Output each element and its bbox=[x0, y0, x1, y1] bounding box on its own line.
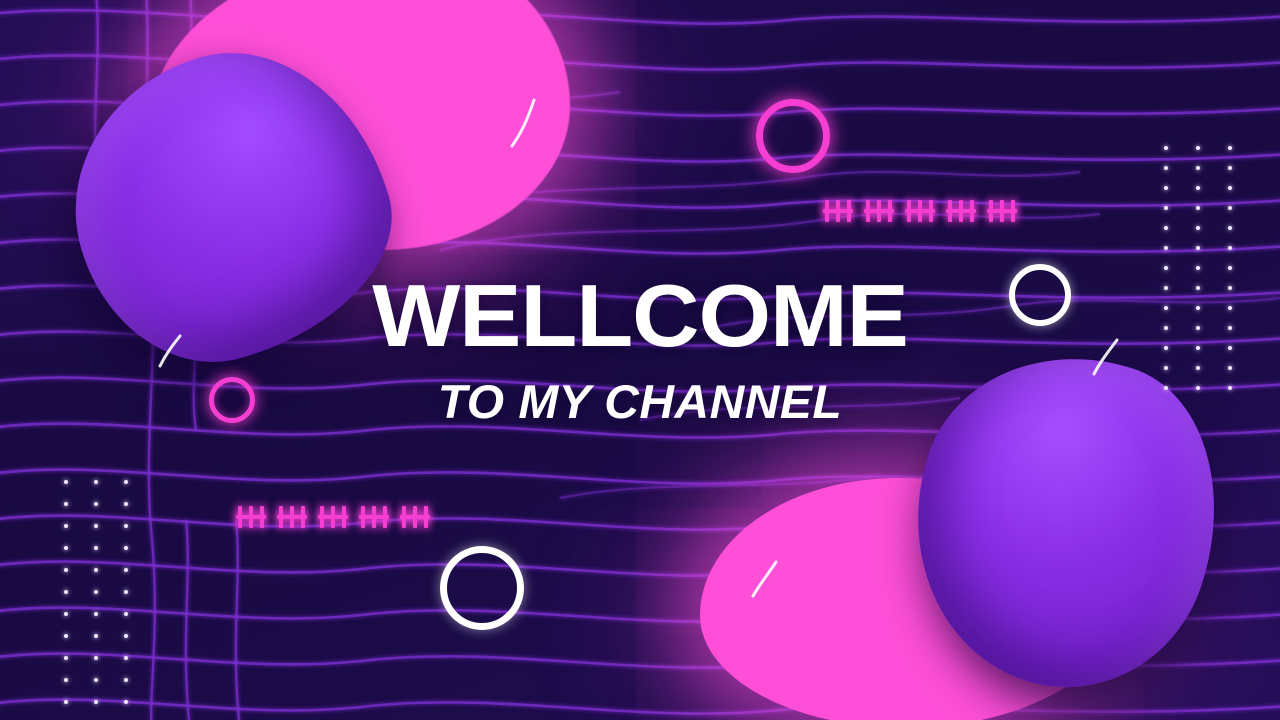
page-subtitle: TO MY CHANNEL bbox=[0, 378, 1280, 425]
grid-dot bbox=[1164, 166, 1168, 170]
grid-dot bbox=[94, 656, 98, 660]
grid-dot bbox=[1228, 226, 1232, 230]
headline-block: WELLCOME TO MY CHANNEL bbox=[0, 272, 1280, 425]
tally-group bbox=[236, 506, 266, 528]
tally-marks-bottom-left bbox=[236, 506, 430, 528]
tally-group bbox=[987, 200, 1017, 222]
ring-pink-top-right bbox=[756, 99, 830, 173]
tally-group bbox=[277, 506, 307, 528]
grid-dot bbox=[124, 656, 128, 660]
dot-grid-left bbox=[64, 480, 128, 704]
grid-dot bbox=[94, 480, 98, 484]
grid-dot bbox=[94, 568, 98, 572]
grid-dot bbox=[1228, 266, 1232, 270]
tally-group bbox=[864, 200, 894, 222]
grid-dot bbox=[1164, 226, 1168, 230]
tally-group bbox=[318, 506, 348, 528]
grid-dot bbox=[64, 656, 68, 660]
grid-dot bbox=[1164, 186, 1168, 190]
grid-dot bbox=[1196, 166, 1200, 170]
tally-group bbox=[400, 506, 430, 528]
grid-dot bbox=[1164, 246, 1168, 250]
grid-dot bbox=[64, 546, 68, 550]
grid-dot bbox=[94, 634, 98, 638]
tally-group bbox=[359, 506, 389, 528]
grid-dot bbox=[1228, 146, 1232, 150]
grid-dot bbox=[1228, 206, 1232, 210]
grid-dot bbox=[124, 612, 128, 616]
grid-dot bbox=[1196, 226, 1200, 230]
page-title: WELLCOME bbox=[0, 272, 1280, 360]
grid-dot bbox=[64, 634, 68, 638]
grid-dot bbox=[94, 502, 98, 506]
grid-dot bbox=[124, 568, 128, 572]
grid-dot bbox=[1228, 186, 1232, 190]
grid-dot bbox=[64, 568, 68, 572]
grid-dot bbox=[124, 678, 128, 682]
grid-dot bbox=[1164, 266, 1168, 270]
grid-dot bbox=[124, 480, 128, 484]
grid-dot bbox=[64, 524, 68, 528]
grid-dot bbox=[64, 678, 68, 682]
grid-dot bbox=[124, 546, 128, 550]
grid-dot bbox=[1196, 266, 1200, 270]
grid-dot bbox=[124, 634, 128, 638]
grid-dot bbox=[1164, 146, 1168, 150]
grid-dot bbox=[124, 590, 128, 594]
grid-dot bbox=[1196, 246, 1200, 250]
poster-canvas: WELLCOME TO MY CHANNEL bbox=[0, 0, 1280, 720]
grid-dot bbox=[94, 700, 98, 704]
grid-dot bbox=[1164, 206, 1168, 210]
ring-white-bottom bbox=[440, 546, 524, 630]
grid-dot bbox=[94, 612, 98, 616]
tally-marks-top-right bbox=[823, 200, 1017, 222]
grid-dot bbox=[94, 590, 98, 594]
grid-dot bbox=[124, 502, 128, 506]
grid-dot bbox=[124, 524, 128, 528]
grid-dot bbox=[1196, 186, 1200, 190]
grid-dot bbox=[124, 700, 128, 704]
grid-dot bbox=[1196, 146, 1200, 150]
tally-group bbox=[946, 200, 976, 222]
tally-group bbox=[905, 200, 935, 222]
grid-dot bbox=[64, 590, 68, 594]
grid-dot bbox=[1196, 206, 1200, 210]
grid-dot bbox=[94, 546, 98, 550]
grid-dot bbox=[64, 502, 68, 506]
grid-dot bbox=[64, 480, 68, 484]
tally-group bbox=[823, 200, 853, 222]
grid-dot bbox=[1228, 166, 1232, 170]
grid-dot bbox=[64, 612, 68, 616]
grid-dot bbox=[1228, 246, 1232, 250]
grid-dot bbox=[64, 700, 68, 704]
grid-dot bbox=[94, 524, 98, 528]
grid-dot bbox=[94, 678, 98, 682]
